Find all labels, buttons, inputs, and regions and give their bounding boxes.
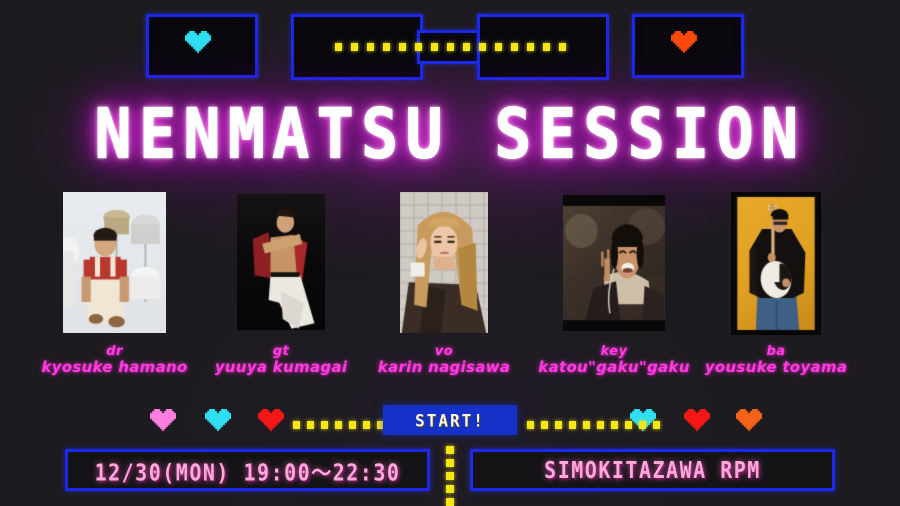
venue-text: SIMOKITAZAWA RPM xyxy=(544,456,761,484)
date-time-text: 12/30(MON) 19:00〜22:30 xyxy=(95,453,401,486)
member-photo xyxy=(400,192,488,333)
panel-dot xyxy=(559,43,566,51)
top-left-heart-box xyxy=(146,14,258,78)
member-photo-frame xyxy=(563,195,665,331)
top-decoration-row xyxy=(0,14,900,80)
pixel-heart-icon xyxy=(150,409,176,435)
member-portrait-image xyxy=(731,192,821,335)
footer-divider-dots xyxy=(446,446,454,506)
divider-dot xyxy=(446,498,454,506)
pixel-heart-icon xyxy=(671,31,705,61)
poster-stage: NENMATSU SESSION drkyosuke hamanogtyuuya… xyxy=(0,0,900,506)
panel-dot-row xyxy=(291,14,609,80)
pixel-heart-icon xyxy=(205,409,231,435)
member-portrait-image xyxy=(63,192,166,333)
date-time-bar: 12/30(MON) 19:00〜22:30 xyxy=(65,449,430,491)
member-photo xyxy=(731,192,821,335)
dot xyxy=(541,421,548,429)
member-portrait-image xyxy=(563,195,665,331)
divider-dot xyxy=(446,485,454,493)
panel-dot xyxy=(479,43,486,51)
member-portrait-image xyxy=(237,194,325,330)
dot xyxy=(555,421,562,429)
member-photo xyxy=(563,195,665,331)
pixel-heart-icon xyxy=(684,409,710,435)
member-photo-row xyxy=(0,192,900,342)
dot xyxy=(321,421,328,429)
dot xyxy=(335,421,342,429)
member-name: yousuke toyama xyxy=(661,359,891,376)
dot xyxy=(639,421,646,429)
panel-dot xyxy=(351,43,358,51)
panel-dot xyxy=(511,43,518,51)
dot xyxy=(611,421,618,429)
panel-dot xyxy=(495,43,502,51)
dot-line xyxy=(527,421,660,429)
dot xyxy=(293,421,300,429)
divider-dot xyxy=(446,459,454,467)
panel-dot xyxy=(527,43,534,51)
dot xyxy=(349,421,356,429)
dot xyxy=(363,421,370,429)
member-photo-frame xyxy=(63,192,166,333)
panel-dot xyxy=(367,43,374,51)
pixel-heart-icon xyxy=(185,31,219,61)
member-label: bayousuke toyama xyxy=(661,345,891,376)
dot xyxy=(653,421,660,429)
dot xyxy=(625,421,632,429)
member-photo-frame xyxy=(731,192,821,335)
dot xyxy=(307,421,314,429)
panel-dot xyxy=(463,43,470,51)
member-portrait-image xyxy=(400,192,488,333)
member-photo-frame xyxy=(400,192,488,333)
divider-dot xyxy=(446,472,454,480)
dot xyxy=(583,421,590,429)
panel-dot xyxy=(383,43,390,51)
top-center-panel xyxy=(291,14,609,80)
dot xyxy=(527,421,534,429)
panel-dot xyxy=(447,43,454,51)
divider-dot xyxy=(446,446,454,454)
member-photo xyxy=(237,194,325,330)
member-label-row: drkyosuke hamanogtyuuya kumagaivokarin n… xyxy=(0,345,900,381)
start-button[interactable]: START! xyxy=(383,405,517,435)
pixel-heart-icon xyxy=(258,409,284,435)
pixel-heart-icon xyxy=(736,409,762,435)
panel-dot xyxy=(335,43,342,51)
panel-dot xyxy=(399,43,406,51)
top-right-heart-box xyxy=(632,14,744,78)
dot xyxy=(597,421,604,429)
page-title: NENMATSU SESSION xyxy=(0,97,900,170)
member-photo-frame xyxy=(237,194,325,330)
panel-dot xyxy=(431,43,438,51)
panel-dot xyxy=(415,43,422,51)
venue-bar: SIMOKITAZAWA RPM xyxy=(470,449,835,491)
dot xyxy=(569,421,576,429)
member-photo xyxy=(63,192,166,333)
member-role: ba xyxy=(661,345,891,359)
panel-dot xyxy=(543,43,550,51)
start-button-label: START! xyxy=(415,410,485,430)
